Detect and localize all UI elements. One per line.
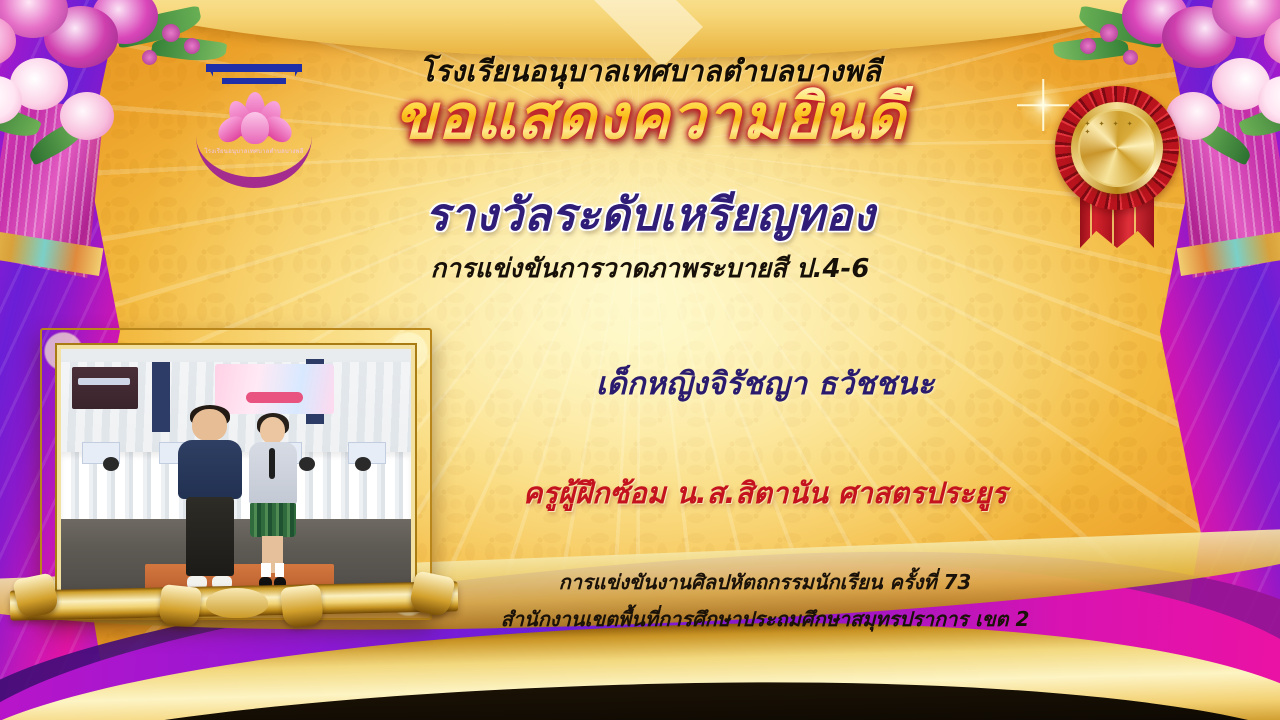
award-photo bbox=[57, 345, 415, 603]
photo-student-figure bbox=[247, 417, 300, 590]
photo-table-bow bbox=[103, 457, 119, 471]
school-logo: โรงเรียนอนุบาลเทศบาลตำบลบางพลี bbox=[192, 58, 316, 186]
ribbon-curl bbox=[158, 584, 202, 628]
photo-table-bow bbox=[355, 457, 371, 471]
certificate-canvas: โรงเรียนอนุบาลเทศบาลตำบลบางพลี ✦ ✦ ✦ ✦ ✦… bbox=[0, 0, 1280, 720]
necktie bbox=[269, 448, 275, 479]
photo-event-banner bbox=[215, 364, 334, 414]
polo-shirt bbox=[178, 440, 242, 499]
footer-line-1: การแข่งขันงานศิลปหัตถกรรมนักเรียน ครั้งท… bbox=[460, 566, 1070, 598]
gold-ribbon-banner bbox=[10, 572, 458, 632]
gold-medal-rosette: ✦ ✦ ✦ ✦ ✦ bbox=[1052, 82, 1182, 250]
footer-block: การแข่งขันงานศิลปหัตถกรรมนักเรียน ครั้งท… bbox=[460, 566, 1070, 635]
ribbon-center-scroll bbox=[206, 588, 268, 618]
coach-name: ครูผู้ฝึกซ้อม น.ส.สิตานัน ศาสตรประยูร bbox=[460, 470, 1070, 516]
student-name: เด็กหญิงจิรัชญา ธวัชชนะ bbox=[460, 358, 1070, 408]
congratulations-headline: ขอแสดงความยินดี bbox=[300, 86, 1000, 148]
competition-category: การแข่งขันการวาดภาพระบายสี ป.4-6 bbox=[300, 248, 1000, 289]
trousers bbox=[186, 497, 234, 576]
logo-ribbon-banner bbox=[196, 136, 312, 188]
photo-backdrop-panel bbox=[152, 362, 170, 432]
logo-ribbon-text: โรงเรียนอนุบาลเทศบาลตำบลบางพลี bbox=[192, 146, 316, 156]
ribbon-curl bbox=[280, 584, 324, 628]
photo-teacher-figure bbox=[177, 409, 244, 589]
medal-stars: ✦ ✦ ✦ ✦ ✦ bbox=[1085, 120, 1150, 136]
plaid-skirt bbox=[250, 503, 296, 538]
photo-table-bow bbox=[299, 457, 315, 471]
footer-line-2: สำนักงานเขตพื้นที่การศึกษาประถมศึกษาสมุท… bbox=[460, 603, 1070, 635]
head bbox=[260, 417, 285, 445]
photo-sign bbox=[72, 367, 139, 410]
triangle-top-bar-icon bbox=[206, 64, 302, 72]
head bbox=[192, 409, 227, 441]
award-level: รางวัลระดับเหรียญทอง bbox=[300, 178, 1000, 250]
triangle-inner-bar-icon bbox=[222, 78, 286, 84]
